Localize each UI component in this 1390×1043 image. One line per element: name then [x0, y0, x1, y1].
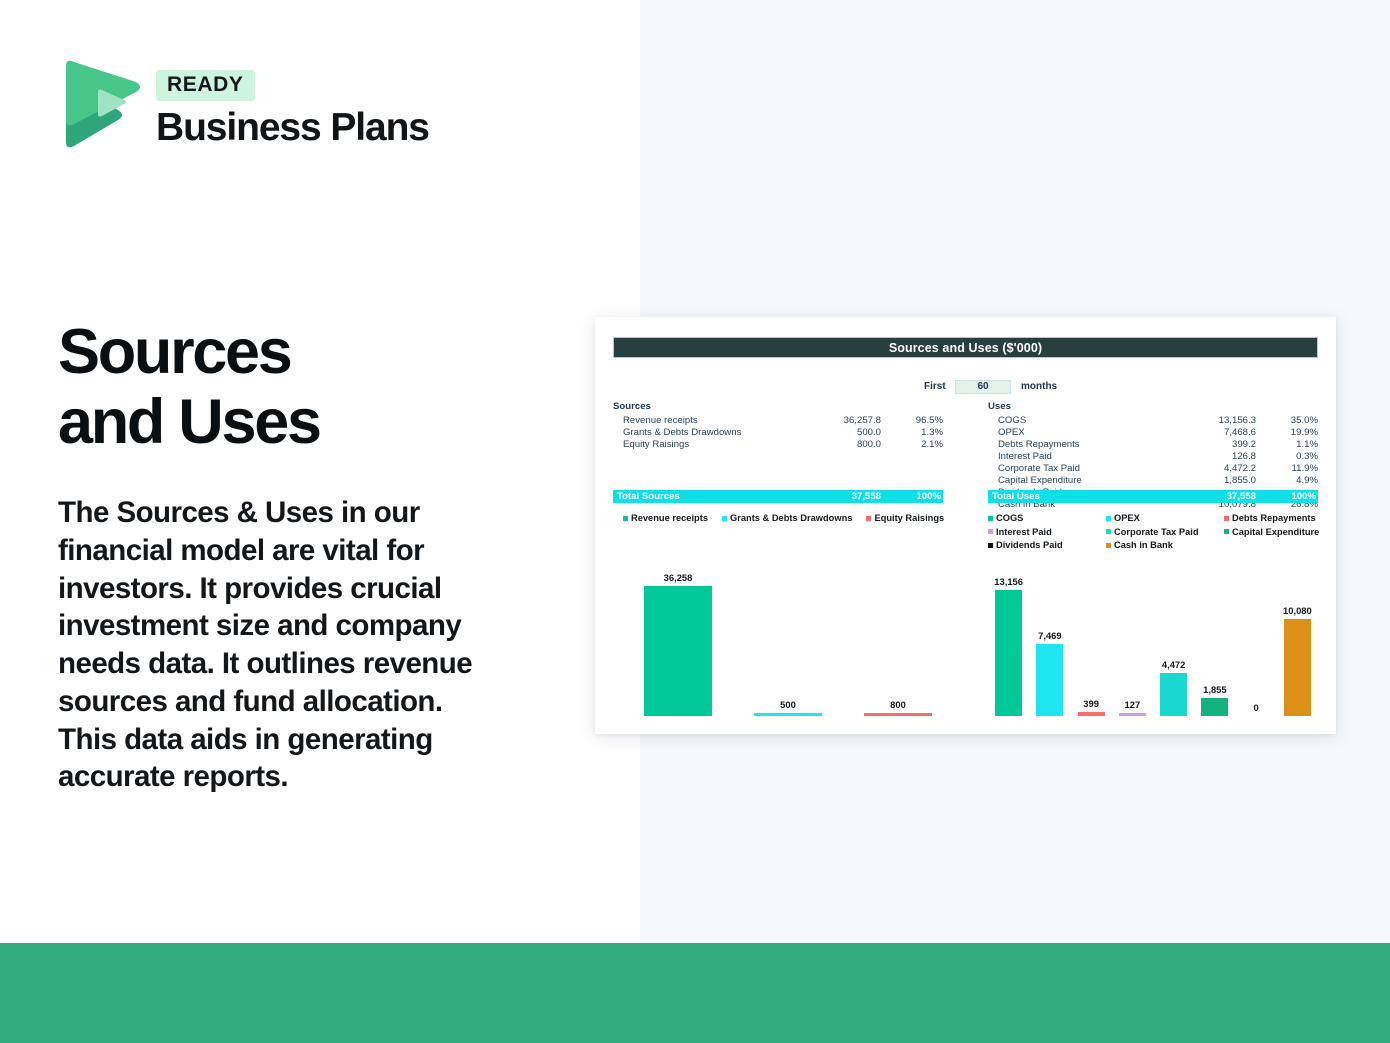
brand-logo: READY Business Plans	[58, 58, 429, 150]
bar-rect	[864, 713, 932, 716]
period-unit-label: months	[1021, 381, 1057, 392]
period-months-input[interactable]: 60	[955, 380, 1011, 394]
uses-row-name: Capital Expenditure	[988, 475, 1178, 486]
sources-row-value: 800.0	[803, 439, 881, 450]
uses-row-name: Debts Repayments	[988, 439, 1178, 450]
legend-label: Corporate Tax Paid	[1114, 527, 1199, 537]
legend-item: OPEX	[1106, 513, 1224, 523]
page-description: The Sources & Uses in our financial mode…	[58, 494, 508, 796]
bar-value-label: 7,469	[1038, 630, 1061, 641]
bar-rect	[1284, 619, 1311, 716]
legend-label: Debts Repayments	[1232, 513, 1316, 523]
bar-slot: 36,258	[623, 566, 733, 716]
bar-rect	[1078, 712, 1105, 716]
legend-item: Corporate Tax Paid	[1106, 527, 1224, 537]
uses-table-header: Uses	[988, 401, 1318, 414]
legend-swatch-icon	[1106, 516, 1111, 521]
uses-row-value: 7,468.6	[1178, 427, 1256, 438]
table-row: Equity Raisings800.02.1%	[613, 438, 943, 450]
bar-rect	[995, 590, 1022, 716]
table-row: Grants & Debts Drawdowns500.01.3%	[613, 426, 943, 438]
bar-value-label: 4,472	[1162, 659, 1185, 670]
uses-row-name: OPEX	[988, 427, 1178, 438]
bar-slot: 7,469	[1029, 566, 1070, 716]
bar-slot: 500	[733, 566, 843, 716]
bar-slot: 399	[1071, 566, 1112, 716]
sources-row-pct: 2.1%	[881, 439, 943, 450]
footer-band	[0, 943, 1390, 1043]
uses-row-value: 126.8	[1178, 451, 1256, 462]
uses-row-name: Interest Paid	[988, 451, 1178, 462]
bar-value-label: 0	[1254, 702, 1259, 713]
bar-slot: 0	[1236, 566, 1277, 716]
legend-swatch-icon	[722, 516, 727, 521]
legend-item: Revenue receipts	[623, 513, 708, 523]
total-uses-value: 37,558	[1178, 491, 1256, 502]
sources-row-pct: 96.5%	[881, 415, 943, 426]
total-uses-pct: 100%	[1256, 491, 1318, 502]
table-row: Capital Expenditure1,855.04.9%	[988, 474, 1318, 486]
bar-slot: 10,080	[1277, 566, 1318, 716]
sources-row-name: Equity Raisings	[613, 439, 803, 450]
bar-value-label: 10,080	[1283, 605, 1312, 616]
uses-row-name: Corporate Tax Paid	[988, 463, 1178, 474]
legend-swatch-icon	[866, 516, 871, 521]
play-triangle-logo-icon	[58, 58, 142, 150]
legend-swatch-icon	[1106, 529, 1111, 534]
legend-label: Equity Raisings	[874, 513, 944, 523]
table-row: COGS13,156.335.0%	[988, 414, 1318, 426]
legend-item: COGS	[988, 513, 1106, 523]
total-uses-row: Total Uses 37,558 100%	[988, 490, 1318, 503]
sources-row-name: Revenue receipts	[613, 415, 803, 426]
legend-item: Grants & Debts Drawdowns	[722, 513, 852, 523]
bar-rect	[1160, 673, 1187, 716]
sources-table-header: Sources	[613, 401, 943, 414]
legend-label: Interest Paid	[996, 527, 1052, 537]
uses-row-pct: 19.9%	[1256, 427, 1318, 438]
bar-value-label: 1,855	[1203, 684, 1226, 695]
sources-and-uses-card: Sources and Uses ($'000) First 60 months…	[595, 317, 1336, 734]
period-prefix-label: First	[924, 381, 946, 392]
bar-rect	[1036, 644, 1063, 716]
bar-value-label: 399	[1083, 698, 1099, 709]
total-uses-label: Total Uses	[988, 491, 1178, 502]
legend-swatch-icon	[1224, 516, 1229, 521]
legend-item: Equity Raisings	[866, 513, 944, 523]
legend-swatch-icon	[988, 516, 993, 521]
bar-rect	[754, 713, 822, 716]
sources-row-value: 500.0	[803, 427, 881, 438]
legend-label: Capital Expenditure	[1232, 527, 1319, 537]
ready-badge: READY	[156, 70, 255, 101]
bar-value-label: 800	[890, 699, 906, 710]
bar-slot: 1,855	[1194, 566, 1235, 716]
legend-swatch-icon	[1224, 529, 1229, 534]
uses-bar-chart: 13,1567,4693991274,4721,855010,080	[988, 544, 1318, 716]
bar-slot: 13,156	[988, 566, 1029, 716]
sources-bar-chart: 36,258500800	[623, 544, 953, 716]
uses-row-value: 399.2	[1178, 439, 1256, 450]
total-sources-value: 37,558	[803, 491, 881, 502]
bar-value-label: 36,258	[664, 572, 693, 583]
table-row: Interest Paid126.80.3%	[988, 450, 1318, 462]
uses-row-pct: 1.1%	[1256, 439, 1318, 450]
bar-value-label: 127	[1125, 699, 1141, 710]
legend-label: COGS	[996, 513, 1023, 523]
legend-swatch-icon	[988, 529, 993, 534]
legend-item: Capital Expenditure	[1224, 527, 1342, 537]
uses-row-name: COGS	[988, 415, 1178, 426]
period-selector-row: First 60 months	[613, 379, 1318, 394]
bar-slot: 800	[843, 566, 953, 716]
bar-slot: 127	[1112, 566, 1153, 716]
bar-rect	[644, 586, 712, 716]
table-row: OPEX7,468.619.9%	[988, 426, 1318, 438]
uses-row-pct: 4.9%	[1256, 475, 1318, 486]
bar-slot: 4,472	[1153, 566, 1194, 716]
sheet-title-bar: Sources and Uses ($'000)	[613, 337, 1318, 358]
total-sources-label: Total Sources	[613, 491, 803, 502]
sources-rows: Revenue receipts36,257.896.5%Grants & De…	[613, 414, 943, 450]
uses-row-pct: 11.9%	[1256, 463, 1318, 474]
page-title: Sources and Uses	[58, 318, 578, 458]
table-row: Corporate Tax Paid4,472.211.9%	[988, 462, 1318, 474]
bar-rect	[1201, 698, 1228, 716]
sources-chart-legend: Revenue receiptsGrants & Debts Drawdowns…	[623, 513, 963, 523]
total-sources-pct: 100%	[881, 491, 943, 502]
sources-table: Sources Revenue receipts36,257.896.5%Gra…	[613, 401, 943, 450]
total-sources-row: Total Sources 37,558 100%	[613, 490, 943, 503]
table-row: Debts Repayments399.21.1%	[988, 438, 1318, 450]
legend-label: OPEX	[1114, 513, 1140, 523]
legend-label: Revenue receipts	[631, 513, 708, 523]
legend-swatch-icon	[623, 516, 628, 521]
sources-row-pct: 1.3%	[881, 427, 943, 438]
uses-row-value: 13,156.3	[1178, 415, 1256, 426]
brand-name: Business Plans	[156, 107, 429, 148]
bar-value-label: 500	[780, 699, 796, 710]
bar-rect	[1119, 713, 1146, 716]
uses-row-pct: 0.3%	[1256, 451, 1318, 462]
table-row: Revenue receipts36,257.896.5%	[613, 414, 943, 426]
legend-item: Debts Repayments	[1224, 513, 1342, 523]
uses-row-value: 4,472.2	[1178, 463, 1256, 474]
legend-label: Grants & Debts Drawdowns	[730, 513, 852, 523]
sources-row-name: Grants & Debts Drawdowns	[613, 427, 803, 438]
uses-row-value: 1,855.0	[1178, 475, 1256, 486]
uses-row-pct: 35.0%	[1256, 415, 1318, 426]
sources-row-value: 36,257.8	[803, 415, 881, 426]
bar-value-label: 13,156	[994, 576, 1023, 587]
legend-item: Interest Paid	[988, 527, 1106, 537]
